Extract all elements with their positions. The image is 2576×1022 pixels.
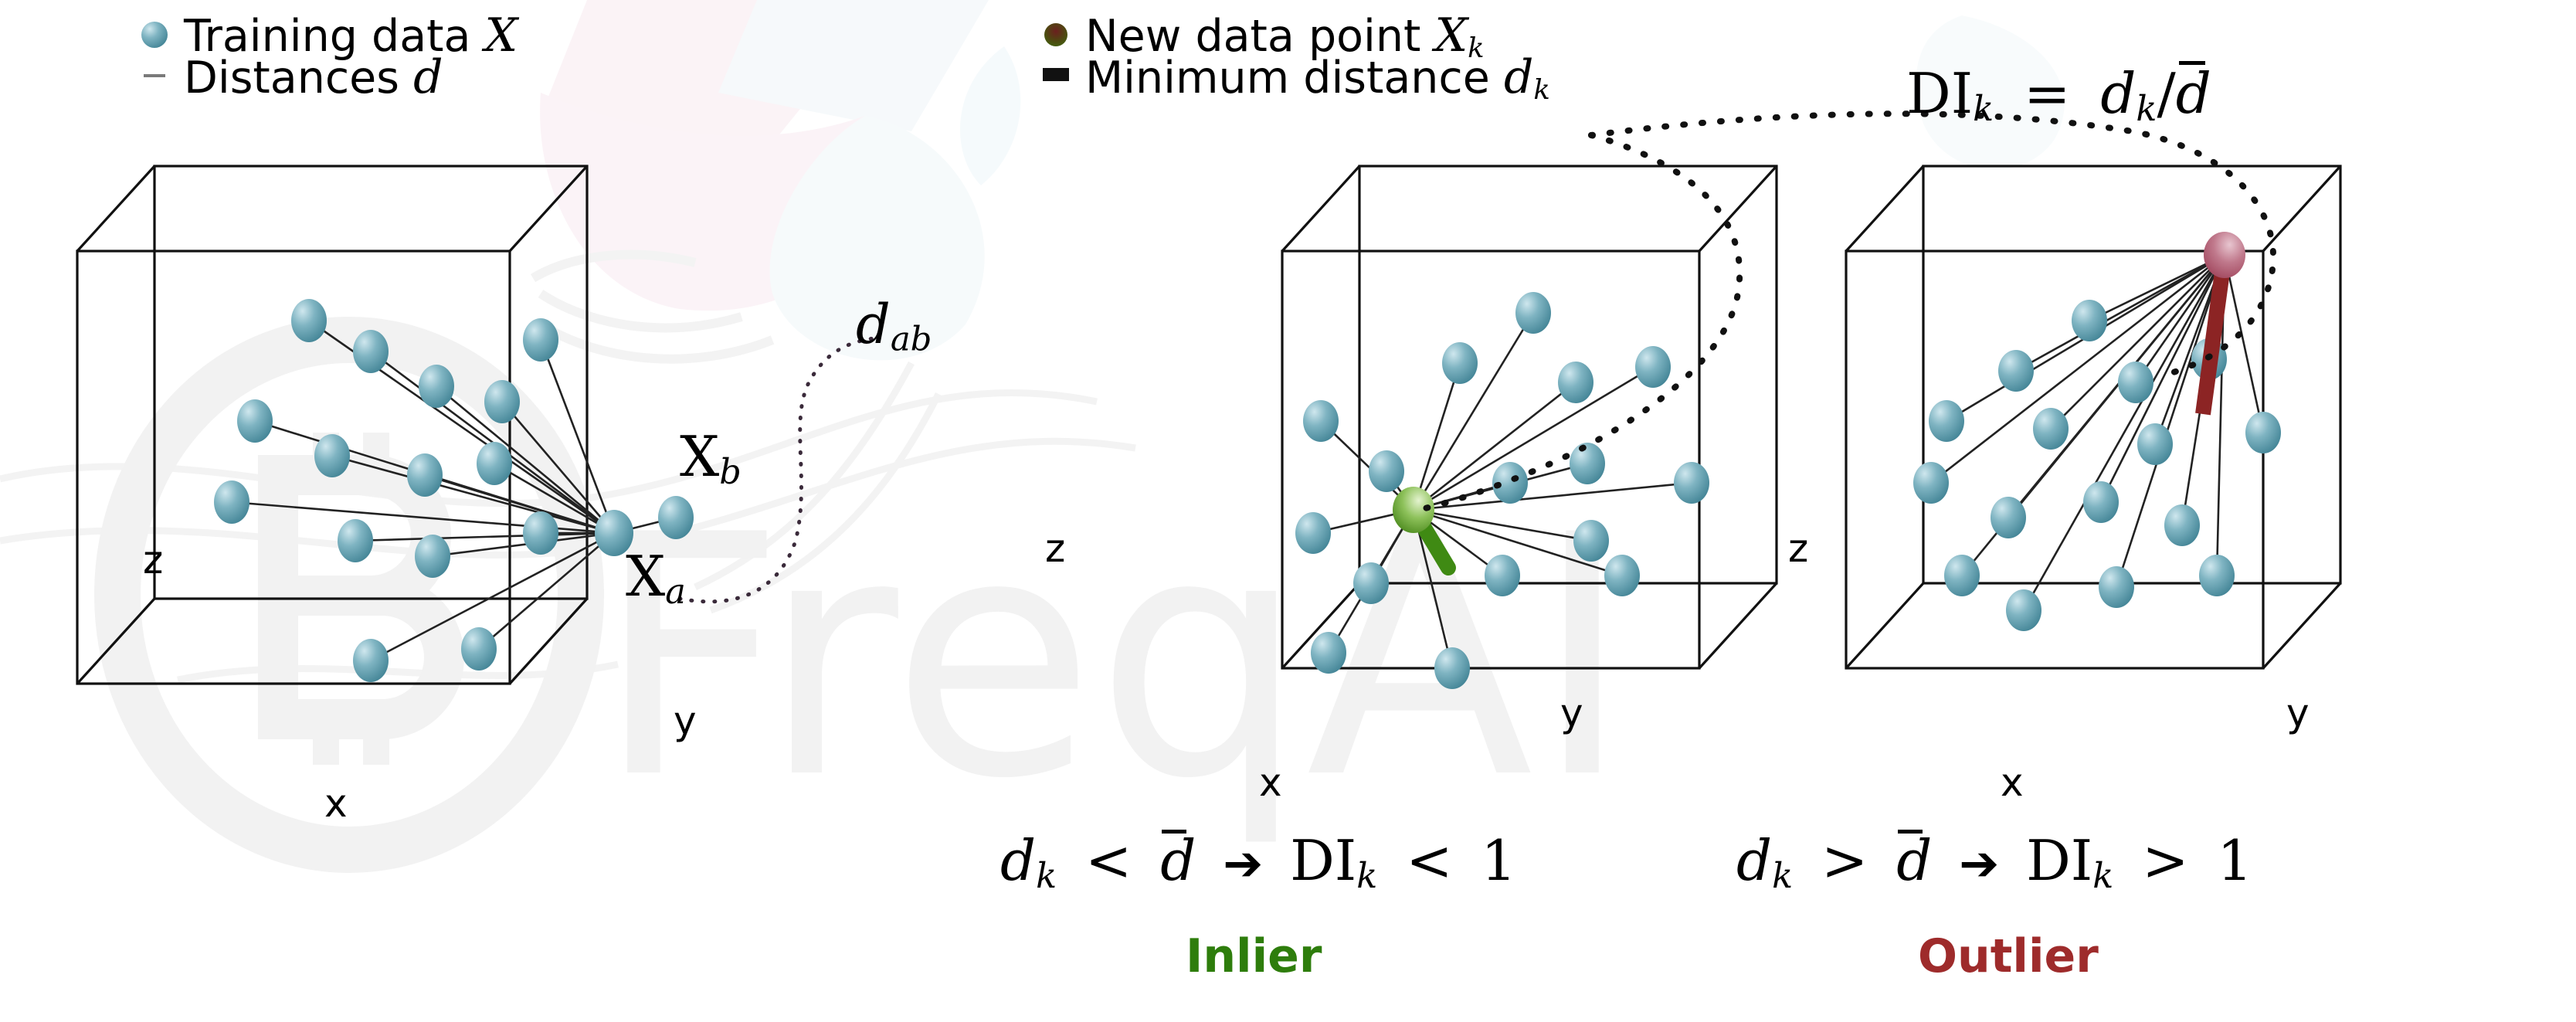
caption-outlier-rel1: > [1811, 828, 1879, 893]
legend-marker-training-dot [141, 22, 168, 48]
caption-inlier-b-bar [1162, 830, 1186, 834]
caption-inlier-a: d [1000, 828, 1036, 893]
caption-outlier-b-bar [1898, 830, 1923, 834]
legend-symbol-training: X [485, 8, 518, 63]
panel-inlier-axis-x: x [1259, 763, 1282, 802]
legend-symbol-distances: d [413, 50, 443, 104]
legend-item-minimum-distance: Minimum distance dk [1085, 54, 1550, 104]
panel-training-cube [77, 166, 881, 684]
caption-outlier-value: 1 [2217, 828, 2252, 893]
panel-outlier-axis-x: x [2001, 763, 2024, 802]
di-formula-lhs: DI [1906, 61, 1973, 126]
di-formula-slash: / [2157, 61, 2175, 126]
panel-training-axis-x: x [324, 784, 348, 823]
caption-inlier-rel1: < [1074, 828, 1142, 893]
label-Xa-sub: a [665, 572, 686, 612]
caption-outlier-a-sub: k [1772, 856, 1793, 896]
cube-edges [77, 166, 587, 684]
panel-training-axis-z: z [143, 541, 163, 579]
legend-marker-min-distance-dash [1043, 68, 1069, 81]
label-Xa: Xa [626, 548, 686, 609]
panel-inlier-cube [1282, 135, 1777, 689]
panel-outlier-axis-y: y [2286, 694, 2310, 732]
caption-outlier-di-sub: k [2092, 856, 2113, 896]
label-dab-sub: ab [891, 321, 932, 359]
caption-inlier-arrow: ➔ [1213, 835, 1272, 891]
caption-inlier-rel2: < [1395, 828, 1463, 893]
caption-outlier-a: d [1736, 828, 1772, 893]
caption-outlier-b: d [1896, 828, 1932, 893]
legend-label-distances: Distances [184, 53, 399, 104]
label-dab-var: d [856, 293, 891, 356]
caption-outlier-rel2: > [2131, 828, 2199, 893]
legend-label-min-distance: Minimum distance [1085, 53, 1490, 104]
di-formula-lhs-sub: k [1973, 89, 1994, 129]
di-formula: DIk = dk/ d [1906, 66, 2211, 126]
legend-item-distances: Distances d [184, 54, 443, 100]
training-points [1295, 292, 1709, 689]
training-points [214, 299, 694, 682]
label-Xb-symbol: X [680, 424, 719, 489]
verdict-outlier: Outlier [1918, 933, 2099, 980]
caption-formula-inlier: dk < d ➔ DIk < 1 [1000, 833, 1516, 893]
caption-inlier-b: d [1160, 828, 1196, 893]
panel-inlier-axis-y: y [1560, 694, 1583, 732]
caption-inlier-value: 1 [1481, 828, 1516, 893]
label-Xa-symbol: X [626, 544, 665, 609]
label-Xb: Xb [680, 429, 742, 489]
caption-inlier-di-sub: k [1356, 856, 1377, 896]
panel-outlier-axis-z: z [1788, 529, 1808, 568]
caption-outlier-di: DI [2026, 828, 2092, 893]
legend-symbol-min-distance: d [1504, 50, 1533, 104]
distance-lines [232, 321, 676, 660]
caption-inlier-di: DI [1290, 828, 1356, 893]
verdict-inlier: Inlier [1186, 933, 1322, 980]
caption-outlier-arrow: ➔ [1950, 835, 2008, 891]
point-Xk-outlier [2204, 232, 2245, 278]
di-formula-den-bar [2179, 61, 2205, 65]
panel-inlier-axis-z: z [1045, 529, 1065, 568]
legend-symbol-min-distance-sub: k [1533, 74, 1549, 106]
di-formula-equals: = [2011, 61, 2082, 126]
caption-inlier-a-sub: k [1036, 856, 1057, 896]
dk-outlier-callout-line [1591, 114, 2273, 375]
figure-canvas: FreqAI [0, 0, 2576, 1022]
di-formula-num: d [2100, 61, 2136, 126]
legend-item-training-data: Training data X [184, 12, 518, 59]
di-formula-num-sub: k [2136, 89, 2157, 129]
point-Xb [658, 496, 694, 539]
label-dab: dab [856, 297, 932, 357]
legend-marker-new-point-dot [1044, 23, 1067, 46]
caption-formula-outlier: dk > d ➔ DIk > 1 [1736, 833, 2252, 893]
di-formula-den: d [2176, 61, 2211, 126]
panel-training-axis-y: y [674, 701, 697, 740]
label-Xb-sub: b [719, 452, 742, 492]
